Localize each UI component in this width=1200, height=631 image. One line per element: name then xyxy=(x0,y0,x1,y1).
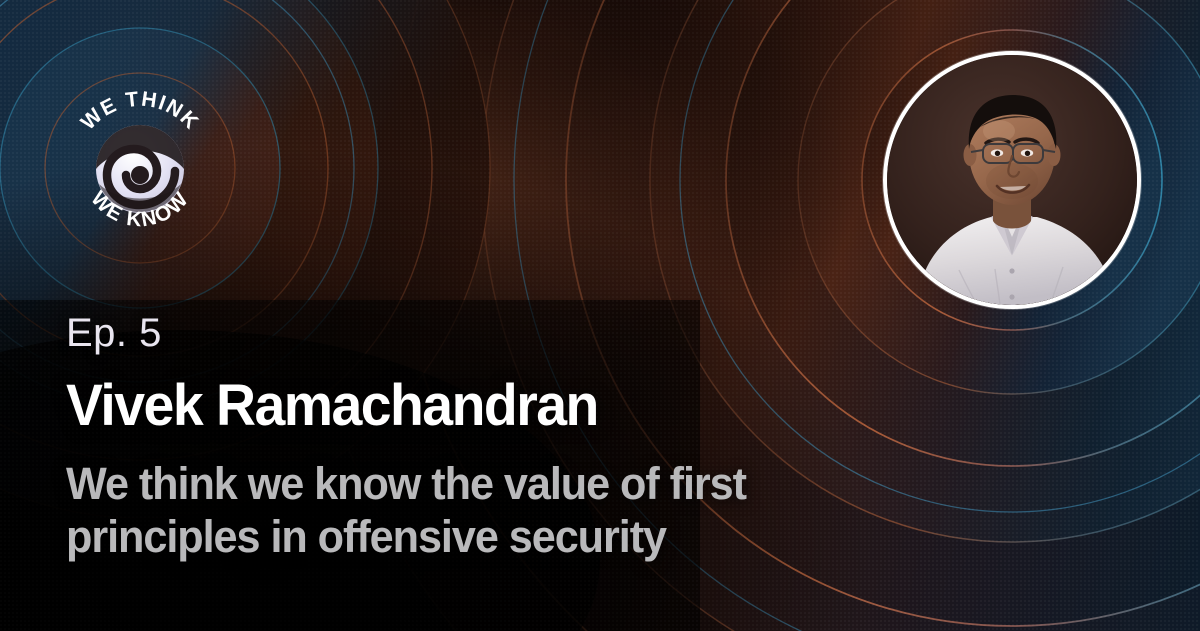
episode-number: Ep. 5 xyxy=(66,312,886,354)
tagline-line-2: principles in offensive security xyxy=(66,511,834,563)
guest-name: Vivek Ramachandran xyxy=(66,376,849,436)
brand-logo: WE THINK WE KNOW xyxy=(57,85,223,251)
episode-card: WE THINK WE KNOW xyxy=(0,0,1200,631)
tagline-line-1: We think we know the value of first xyxy=(66,458,834,510)
guest-portrait xyxy=(883,51,1141,309)
episode-text-block: Ep. 5 Vivek Ramachandran We think we kno… xyxy=(66,312,886,563)
episode-tagline: We think we know the value of first prin… xyxy=(66,458,834,562)
